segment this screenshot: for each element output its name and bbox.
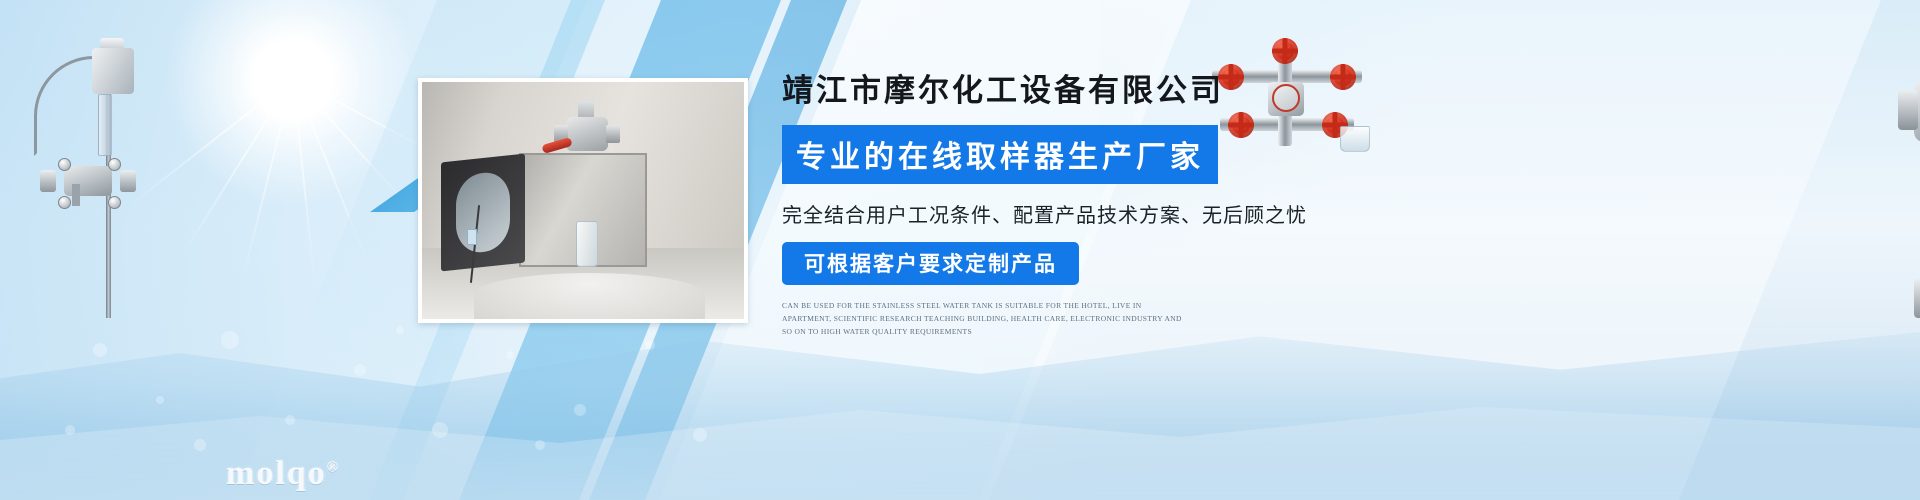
custom-product-pill: 可根据客户要求定制产品 — [782, 242, 1079, 285]
red-handwheel-icon — [1272, 38, 1298, 64]
machine-head — [92, 48, 134, 94]
photo-door-window — [456, 170, 510, 254]
valve-flange — [1898, 90, 1918, 130]
valve-flange — [1914, 278, 1920, 318]
valve-handwheel — [108, 158, 121, 171]
valve-machine-bottom-right-image — [1912, 238, 1920, 418]
registered-trademark-icon: ® — [327, 460, 340, 476]
product-photo-inner — [422, 82, 744, 319]
photo-valve-assembly — [548, 101, 624, 167]
english-description: CAN BE USED FOR THE STAINLESS STEEL WATE… — [782, 299, 1182, 338]
water-droplets-icon — [40, 310, 740, 460]
watermark-text: molqo — [226, 455, 327, 492]
sub-headline: 完全结合用户工况条件、配置产品技术方案、无后顾之忧 — [782, 199, 1422, 228]
banner-text-block: 靖江市摩尔化工设备有限公司 专业的在线取样器生产厂家 完全结合用户工况条件、配置… — [782, 72, 1422, 338]
valve-flange — [120, 170, 136, 192]
sampler-machine-left-image — [14, 22, 174, 322]
machine-probe — [72, 184, 80, 206]
headline-banner: 专业的在线取样器生产厂家 — [782, 125, 1218, 184]
valve-machine-top-right-image — [1900, 34, 1920, 234]
photo-sample-bottle — [576, 221, 598, 267]
machine-sight-glass — [98, 94, 112, 156]
promo-banner: 靖江市摩尔化工设备有限公司 专业的在线取样器生产厂家 完全结合用户工况条件、配置… — [0, 0, 1920, 500]
product-photo — [418, 78, 748, 323]
photo-table — [474, 273, 706, 319]
watermark-logo: molqo® — [226, 455, 340, 493]
photo-valve-flange — [606, 125, 620, 143]
valve-handwheel — [108, 196, 121, 209]
valve-flange — [40, 170, 56, 192]
photo-cabinet — [519, 153, 648, 267]
photo-cabinet-door — [441, 153, 525, 271]
photo-valve-body — [566, 117, 608, 151]
machine-valve-block — [34, 152, 146, 214]
valve-handwheel — [58, 158, 71, 171]
company-name: 靖江市摩尔化工设备有限公司 — [782, 72, 1422, 111]
photo-label-tag — [467, 229, 477, 245]
valve-handwheel — [58, 196, 71, 209]
